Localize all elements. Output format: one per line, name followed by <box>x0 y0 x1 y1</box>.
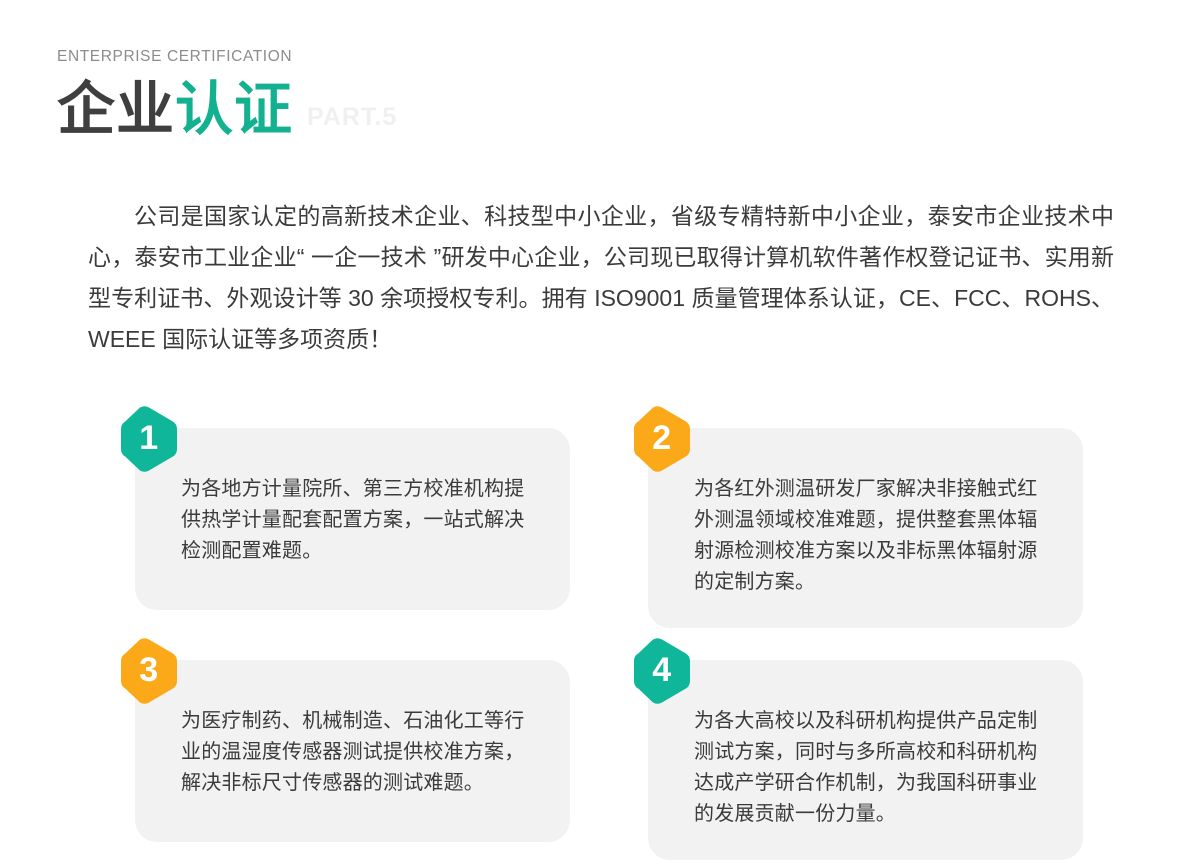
page-title-part-label: PART.5 <box>307 103 397 132</box>
card-body: 为各大高校以及科研机构提供产品定制测试方案，同时与多所高校和科研机构达成产学研合… <box>648 660 1083 860</box>
page-title: 企业 认证 PART.5 <box>57 79 1143 142</box>
card-number: 1 <box>139 421 158 457</box>
card-number: 4 <box>652 653 671 689</box>
card-number: 3 <box>139 653 158 689</box>
card-text: 为各大高校以及科研机构提供产品定制测试方案，同时与多所高校和科研机构达成产学研合… <box>694 706 1055 830</box>
card-text: 为各红外测温研发厂家解决非接触式红外测温领域校准难题，提供整套黑体辐射源检测校准… <box>694 474 1055 598</box>
card-number-badge: 1 <box>118 406 180 472</box>
page-header: ENTERPRISE CERTIFICATION 企业 认证 PART.5 <box>57 48 1143 141</box>
card-number-badge: 2 <box>631 406 693 472</box>
card-body: 为各地方计量院所、第三方校准机构提供热学计量配套配置方案，一站式解决检测配置难题… <box>135 428 570 610</box>
intro-paragraph: 公司是国家认定的高新技术企业、科技型中小企业，省级专精特新中小企业，泰安市企业技… <box>88 196 1114 360</box>
card-number-badge: 3 <box>118 638 180 704</box>
card-number: 2 <box>652 421 671 457</box>
certification-cards: 为各地方计量院所、第三方校准机构提供热学计量配套配置方案，一站式解决检测配置难题… <box>118 406 1084 842</box>
card-body: 为医疗制药、机械制造、石油化工等行业的温湿度传感器测试提供校准方案，解决非标尺寸… <box>135 660 570 842</box>
card-number-badge: 4 <box>631 638 693 704</box>
card-text: 为各地方计量院所、第三方校准机构提供热学计量配套配置方案，一站式解决检测配置难题… <box>181 474 542 567</box>
page-title-main: 企业 <box>57 79 175 142</box>
page-title-accent: 认证 <box>175 79 293 142</box>
card-text: 为医疗制药、机械制造、石油化工等行业的温湿度传感器测试提供校准方案，解决非标尺寸… <box>181 706 542 799</box>
card-body: 为各红外测温研发厂家解决非接触式红外测温领域校准难题，提供整套黑体辐射源检测校准… <box>648 428 1083 628</box>
header-eyebrow: ENTERPRISE CERTIFICATION <box>57 48 1143 67</box>
